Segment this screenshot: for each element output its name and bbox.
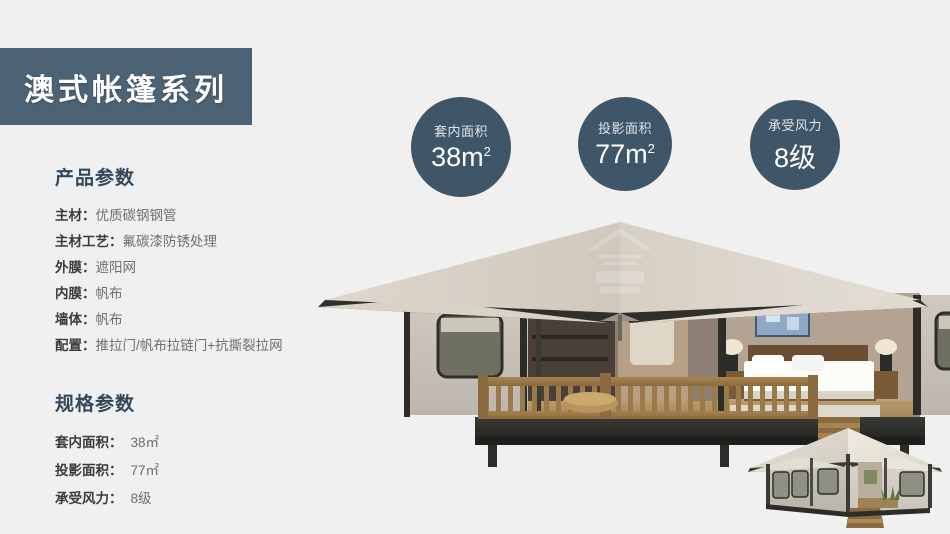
- mini-tent-post: [766, 464, 770, 508]
- deck-leg: [720, 445, 729, 467]
- pillow: [792, 355, 824, 371]
- tent-post: [913, 295, 921, 415]
- mini-window: [773, 472, 789, 498]
- product-row-label: 墙体：: [55, 312, 96, 327]
- lamp-shade: [875, 339, 897, 355]
- spec-row-label: 投影面积：: [55, 463, 123, 478]
- product-row-label: 主材：: [55, 208, 96, 223]
- spec-row-value: 8级: [131, 491, 152, 506]
- mini-tent-post: [810, 458, 813, 506]
- page-title: 澳式帐篷系列: [24, 65, 228, 109]
- product-row-value: 推拉门/帆布拉链门+抗撕裂拉网: [96, 338, 283, 353]
- stat-badge-wind-resistance: 承受风力 8级: [750, 100, 840, 190]
- stat-badge-number: 38: [431, 142, 461, 172]
- pillow: [752, 355, 784, 371]
- tent-post: [404, 301, 410, 417]
- thumbnail-tent-image: [740, 412, 950, 534]
- tent-roof-left: [325, 222, 620, 313]
- product-row-value: 帆布: [96, 312, 123, 327]
- spec-row-label: 套内面积：: [55, 435, 123, 450]
- mini-window: [818, 469, 838, 494]
- spec-row-value: 38㎡: [131, 435, 160, 450]
- mini-window: [792, 471, 808, 497]
- slide-canvas: 澳式帐篷系列 产品参数 主材：优质碳钢钢管 主材工艺：氟碳漆防锈处理 外膜：遮阳…: [0, 0, 950, 534]
- railing-post: [478, 375, 488, 419]
- product-row-value: 遮阳网: [96, 260, 137, 275]
- stat-badge-value: 38m2: [431, 142, 491, 173]
- stat-badge-unit: m: [625, 139, 648, 169]
- stat-badge-number: 8级: [774, 143, 816, 173]
- deck-leg: [488, 445, 497, 467]
- spec-row-label: 承受风力：: [55, 491, 123, 506]
- spec-row-value: 77㎡: [131, 463, 160, 478]
- stat-badge-interior-area: 套内面积 38m2: [411, 97, 511, 197]
- mini-tent-post: [928, 464, 932, 508]
- railing-top-rail: [478, 377, 818, 386]
- product-row-value: 帆布: [96, 286, 123, 301]
- stat-badge-caption: 投影面积: [598, 118, 652, 137]
- stat-badge-value: 8级: [774, 136, 816, 175]
- stat-badge-caption: 套内面积: [434, 121, 488, 140]
- product-row-value: 氟碳漆防锈处理: [123, 234, 218, 249]
- stat-badge-unit: m: [461, 142, 484, 172]
- stat-badge-caption: 承受风力: [768, 115, 822, 134]
- title-banner: 澳式帐篷系列: [0, 48, 252, 125]
- stat-badge-superscript: 2: [484, 144, 491, 159]
- stat-badge-value: 77m2: [595, 139, 655, 170]
- stat-badge-projected-area: 投影面积 77m2: [578, 97, 672, 191]
- product-row-label: 内膜：: [55, 286, 96, 301]
- stat-badge-number: 77: [595, 139, 625, 169]
- window-shade: [441, 318, 499, 332]
- product-row-label: 外膜：: [55, 260, 96, 275]
- window-shade: [939, 316, 950, 329]
- roof-center-pole: [618, 315, 622, 341]
- nightstand: [874, 371, 898, 399]
- spec-row: 承受风力：8级: [55, 485, 355, 513]
- product-row-value: 优质碳钢钢管: [96, 208, 177, 223]
- mini-window: [900, 472, 924, 496]
- mini-tent-post: [846, 454, 850, 512]
- product-row-label: 配置：: [55, 338, 96, 353]
- product-section-heading: 产品参数: [55, 163, 355, 190]
- product-row-label: 主材工艺：: [55, 234, 123, 249]
- mini-door-window: [864, 470, 877, 484]
- stat-badge-superscript: 2: [648, 141, 655, 156]
